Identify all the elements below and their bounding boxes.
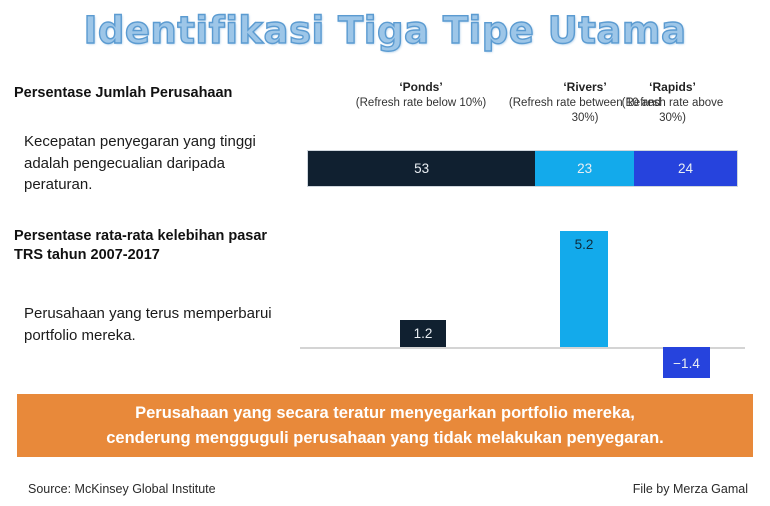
callout-line-1: Perusahaan yang secara teratur menyegark… bbox=[135, 401, 635, 426]
column-header-rapids-title: ‘Rapids’ bbox=[607, 80, 738, 95]
column-header-rapids: ‘Rapids’ (Refresh rate above 30%) bbox=[607, 80, 738, 126]
footer-credit-text: File by Merza Gamal bbox=[633, 482, 748, 496]
stacked-bar-value-rivers: 23 bbox=[577, 161, 592, 176]
column-chart: 1.2 5.2 −1.4 bbox=[300, 222, 745, 384]
footer-source-text: Source: McKinsey Global Institute bbox=[28, 482, 216, 496]
column-bar-value-ponds: 1.2 bbox=[414, 326, 433, 347]
column-bar-value-rapids: −1.4 bbox=[673, 356, 700, 371]
column-bar-rapids: −1.4 bbox=[663, 347, 710, 378]
column-bar-ponds: 1.2 bbox=[400, 320, 446, 347]
chart-column-headers: ‘Ponds’ (Refresh rate below 10%) ‘Rivers… bbox=[307, 80, 738, 142]
stacked-bar-chart: 53 23 24 bbox=[307, 150, 738, 187]
stacked-bar-segment-rivers: 23 bbox=[535, 151, 634, 186]
callout-banner: Perusahaan yang secara teratur menyegark… bbox=[17, 394, 753, 457]
column-header-ponds-subtitle: (Refresh rate below 10%) bbox=[307, 96, 535, 111]
column-header-ponds-title: ‘Ponds’ bbox=[307, 80, 535, 95]
stacked-bar-segment-rapids: 24 bbox=[634, 151, 737, 186]
page-title: Identifikasi Tiga Tipe Utama bbox=[0, 8, 770, 54]
stacked-bar-value-ponds: 53 bbox=[414, 161, 429, 176]
section-2-body-text: Perusahaan yang terus memperbarui portfo… bbox=[24, 303, 294, 346]
section-1-body-text: Kecepatan penyegaran yang tinggi adalah … bbox=[24, 131, 294, 196]
column-bar-rivers: 5.2 bbox=[560, 231, 608, 347]
callout-line-2: cenderung mengguguli perusahaan yang tid… bbox=[106, 426, 663, 451]
stacked-bar-segment-ponds: 53 bbox=[308, 151, 535, 186]
section-2-heading: Persentase rata-rata kelebihan pasar TRS… bbox=[14, 227, 299, 265]
stacked-bar-value-rapids: 24 bbox=[678, 161, 693, 176]
section-1-heading: Persentase Jumlah Perusahaan bbox=[14, 84, 299, 103]
column-header-ponds: ‘Ponds’ (Refresh rate below 10%) bbox=[307, 80, 535, 111]
column-bar-value-rivers: 5.2 bbox=[575, 237, 594, 347]
column-header-rapids-subtitle: (Refresh rate above 30%) bbox=[607, 96, 738, 126]
